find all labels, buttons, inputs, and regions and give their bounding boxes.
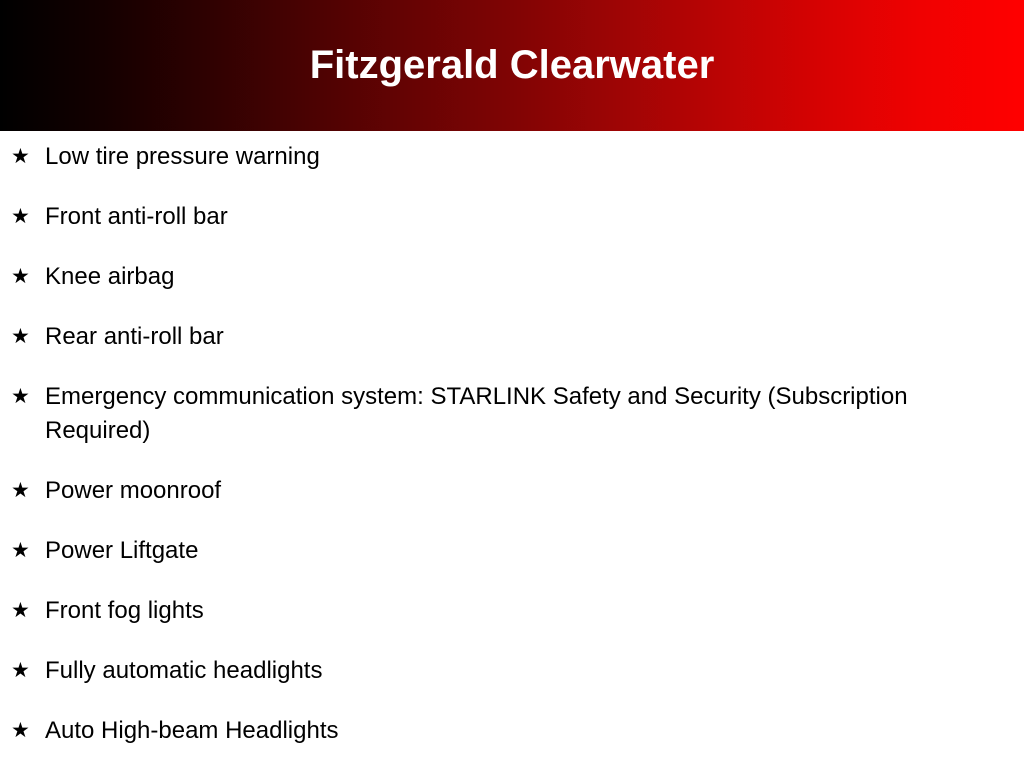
list-item: ★ Front fog lights <box>0 594 1010 628</box>
list-item-label: Knee airbag <box>45 260 1010 294</box>
star-bullet-icon: ★ <box>11 654 35 688</box>
star-bullet-icon: ★ <box>11 320 35 354</box>
star-bullet-icon: ★ <box>11 260 35 294</box>
list-item: ★ Emergency communication system: STARLI… <box>0 380 1010 448</box>
list-item-label: Fully automatic headlights <box>45 654 1010 688</box>
list-item: ★ Auto High-beam Headlights <box>0 714 1010 748</box>
list-item-label: Front anti-roll bar <box>45 200 1010 234</box>
star-bullet-icon: ★ <box>11 594 35 628</box>
star-bullet-icon: ★ <box>11 534 35 568</box>
list-item-label: Power Liftgate <box>45 534 1010 568</box>
star-bullet-icon: ★ <box>11 474 35 508</box>
star-bullet-icon: ★ <box>11 200 35 234</box>
page-title: Fitzgerald Clearwater <box>0 41 1024 89</box>
list-item: ★ Fully automatic headlights <box>0 654 1010 688</box>
title-banner: Fitzgerald Clearwater <box>0 0 1024 131</box>
list-item: ★ Power Liftgate <box>0 534 1010 568</box>
star-bullet-icon: ★ <box>11 714 35 748</box>
list-item-label: Front fog lights <box>45 594 1010 628</box>
star-bullet-icon: ★ <box>11 380 35 414</box>
list-item-label: Rear anti-roll bar <box>45 320 1010 354</box>
list-item: ★ Knee airbag <box>0 260 1010 294</box>
list-item: ★ Power moonroof <box>0 474 1010 508</box>
list-item-label: Power moonroof <box>45 474 1010 508</box>
list-item-label: Emergency communication system: STARLINK… <box>45 380 1010 448</box>
feature-bullet-list: ★ Low tire pressure warning ★ Front anti… <box>0 140 1010 748</box>
presentation-slide: Fitzgerald Clearwater ★ Low tire pressur… <box>0 0 1024 768</box>
star-bullet-icon: ★ <box>11 140 35 174</box>
list-item: ★ Low tire pressure warning <box>0 140 1010 174</box>
list-item-label: Auto High-beam Headlights <box>45 714 1010 748</box>
list-item-label: Low tire pressure warning <box>45 140 1010 174</box>
list-item: ★ Front anti-roll bar <box>0 200 1010 234</box>
list-item: ★ Rear anti-roll bar <box>0 320 1010 354</box>
